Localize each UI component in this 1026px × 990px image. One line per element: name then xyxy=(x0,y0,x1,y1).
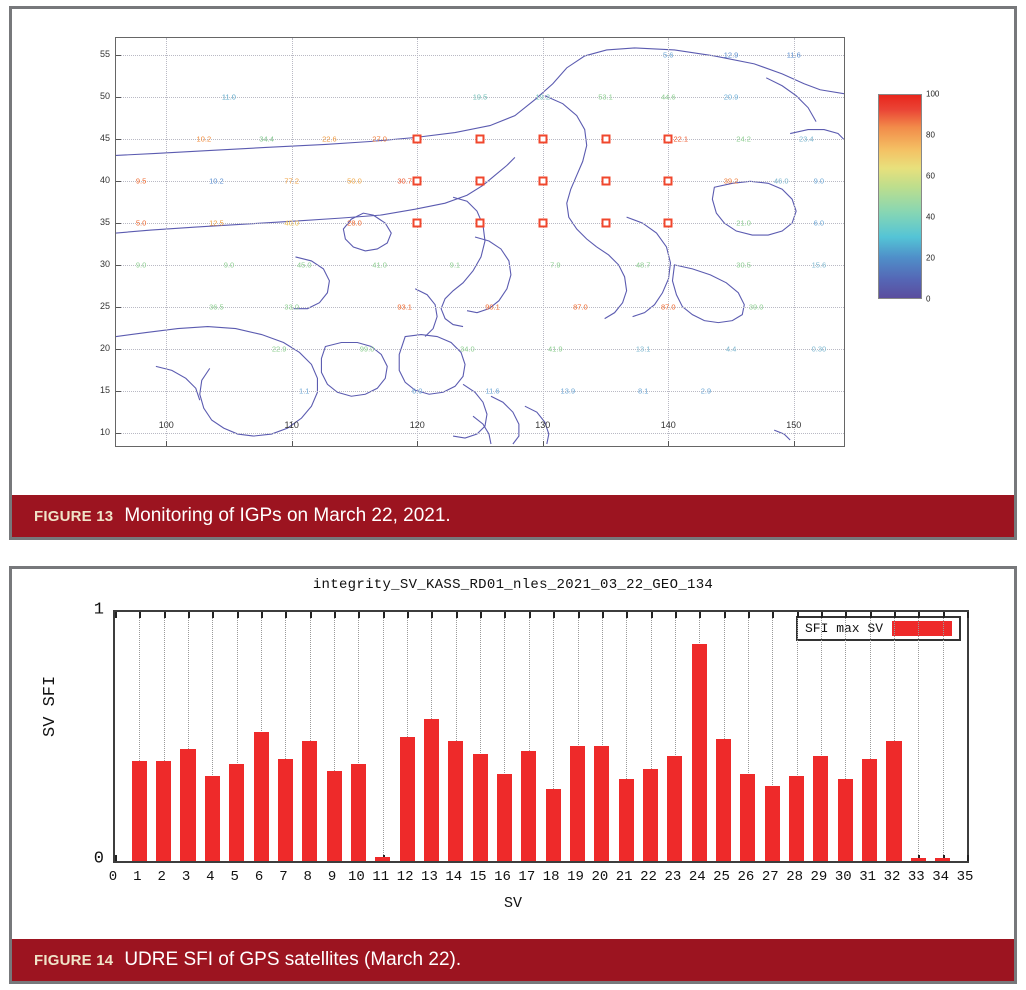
map-x-tick-label: 120 xyxy=(410,420,425,430)
igp-value-label: 41.0 xyxy=(372,261,387,270)
igp-marker xyxy=(601,219,610,228)
figure-14-caption-bar: FIGURE 14 UDRE SFI of GPS satellites (Ma… xyxy=(12,939,1014,981)
colorbar-gradient xyxy=(878,94,922,299)
chart-top-tickmark xyxy=(943,612,945,618)
x-tick-label: 30 xyxy=(835,869,852,885)
igp-value-label: 30.7 xyxy=(397,177,412,186)
bar xyxy=(424,719,439,861)
x-tick-label: 14 xyxy=(445,869,462,885)
igp-value-label: 19.2 xyxy=(535,92,550,101)
chart-top-tickmark xyxy=(675,612,677,618)
igp-value-label: 40.0 xyxy=(284,219,299,228)
chart-top-tickmark xyxy=(529,612,531,618)
chart-top-tickmark xyxy=(139,612,141,618)
bar xyxy=(351,764,366,861)
chart-top-tickmark xyxy=(164,612,166,618)
x-tick-label: 33 xyxy=(908,869,925,885)
igp-value-label: 36.5 xyxy=(209,303,224,312)
igp-value-label: 53.1 xyxy=(598,92,613,101)
x-tick-label: 25 xyxy=(713,869,730,885)
igp-value-label: 87.0 xyxy=(661,303,676,312)
bar xyxy=(643,769,658,861)
map-y-tickmark xyxy=(115,433,121,434)
igp-marker xyxy=(538,177,547,186)
igp-marker xyxy=(664,219,673,228)
igp-marker xyxy=(476,219,485,228)
igp-value-label: 15.6 xyxy=(812,261,827,270)
colorbar-tick-label: 100 xyxy=(926,90,939,99)
bar xyxy=(278,759,293,861)
chart-top-tickmark xyxy=(504,612,506,618)
chart-bottom-tickmark xyxy=(115,855,117,861)
map-gridline-horizontal xyxy=(116,391,844,392)
bar xyxy=(546,789,561,861)
igp-value-label: 87.0 xyxy=(573,303,588,312)
map-x-tickmark xyxy=(794,441,795,447)
chart-top-tickmark xyxy=(456,612,458,618)
x-tick-label: 5 xyxy=(231,869,239,885)
igp-value-label: 7.9 xyxy=(550,261,560,270)
map-y-tickmark xyxy=(115,391,121,392)
map-y-tickmark xyxy=(115,181,121,182)
igp-value-label: 11.6 xyxy=(787,50,801,59)
igp-value-label: 13.9 xyxy=(561,387,576,396)
chart-top-tickmark xyxy=(894,612,896,618)
chart-top-tickmark xyxy=(212,612,214,618)
igp-value-label: 1.1 xyxy=(299,387,309,396)
map-y-tick-label: 15 xyxy=(100,385,110,395)
bar xyxy=(521,751,536,861)
map-y-tick-label: 45 xyxy=(100,133,110,143)
colorbar-tick-label: 80 xyxy=(926,131,935,140)
colorbar: 020406080100 xyxy=(878,94,978,309)
igp-value-label: 22.1 xyxy=(674,134,689,143)
bar xyxy=(375,857,390,861)
igp-value-label: 23.4 xyxy=(799,134,814,143)
x-tick-label: 19 xyxy=(567,869,584,885)
igp-value-label: 34.4 xyxy=(259,134,274,143)
igp-marker xyxy=(601,134,610,143)
bar xyxy=(448,741,463,861)
bar xyxy=(838,779,853,861)
map-y-tickmark xyxy=(115,223,121,224)
map-y-tick-label: 50 xyxy=(100,91,110,101)
map-y-tickmark xyxy=(115,97,121,98)
x-tick-label: 6 xyxy=(255,869,263,885)
igp-marker xyxy=(601,177,610,186)
map-y-tickmark xyxy=(115,139,121,140)
figure-14-card: integrity_SV_KASS_RD01_nles_2021_03_22_G… xyxy=(9,566,1017,984)
bar xyxy=(886,741,901,861)
bar xyxy=(180,749,195,861)
chart-top-tickmark xyxy=(626,612,628,618)
chart-top-tickmark xyxy=(602,612,604,618)
chart-title: integrity_SV_KASS_RD01_nles_2021_03_22_G… xyxy=(12,577,1014,593)
bar xyxy=(205,776,220,861)
x-tick-label: 34 xyxy=(932,869,949,885)
x-tick-label: 29 xyxy=(811,869,828,885)
chart-top-tickmark xyxy=(285,612,287,618)
colorbar-tick-label: 20 xyxy=(926,254,935,263)
map-x-tick-label: 150 xyxy=(786,420,801,430)
chart-top-tickmark xyxy=(334,612,336,618)
chart-top-tickmark xyxy=(845,612,847,618)
igp-value-label: 9.0 xyxy=(136,261,146,270)
bar xyxy=(132,761,147,861)
igp-value-label: 2.9 xyxy=(701,387,711,396)
chart-top-tickmark xyxy=(870,612,872,618)
x-tick-label: 31 xyxy=(859,869,876,885)
map-y-tick-label: 25 xyxy=(100,301,110,311)
chart-bottom-tickmark xyxy=(967,855,969,861)
igp-value-label: 6.0 xyxy=(814,219,824,228)
map-x-tickmark xyxy=(292,441,293,447)
chart-top-tickmark xyxy=(480,612,482,618)
map-y-tickmark xyxy=(115,307,121,308)
bar xyxy=(813,756,828,861)
bar xyxy=(692,644,707,861)
x-tick-label: 12 xyxy=(397,869,414,885)
igp-map: 5.612.911.611.019.519.253.144.620.910.23… xyxy=(115,37,845,447)
igp-value-label: 45.0 xyxy=(297,261,312,270)
bar xyxy=(862,759,877,861)
x-tick-label: 17 xyxy=(518,869,535,885)
igp-value-label: 44.6 xyxy=(661,92,676,101)
x-tick-label: 32 xyxy=(884,869,901,885)
chart-top-tickmark xyxy=(383,612,385,618)
y-tick-label: 0 xyxy=(94,850,104,869)
x-tick-label: 10 xyxy=(348,869,365,885)
x-axis-label: SV xyxy=(12,895,1014,912)
map-x-tick-label: 130 xyxy=(535,420,550,430)
igp-marker xyxy=(538,134,547,143)
bar xyxy=(740,774,755,861)
chart-top-tickmark xyxy=(821,612,823,618)
map-y-tick-label: 10 xyxy=(100,427,110,437)
igp-value-label: 22.9 xyxy=(272,345,287,354)
igp-value-label: 9.5 xyxy=(136,177,146,186)
bar xyxy=(302,741,317,861)
map-gridline-vertical xyxy=(417,38,418,446)
igp-value-label: 39.2 xyxy=(724,177,739,186)
igp-value-label: 5.6 xyxy=(663,50,673,59)
bar xyxy=(789,776,804,861)
figure-14-caption-text: UDRE SFI of GPS satellites (March 22). xyxy=(124,949,461,971)
map-x-tickmark xyxy=(166,441,167,447)
x-tick-label: 24 xyxy=(689,869,706,885)
chart-top-tickmark xyxy=(358,612,360,618)
x-tick-label: 2 xyxy=(157,869,165,885)
x-tick-label: 0 xyxy=(109,869,117,885)
chart-top-tickmark xyxy=(748,612,750,618)
x-tick-label: 9 xyxy=(328,869,336,885)
igp-value-label: 77.2 xyxy=(284,177,299,186)
igp-value-label: 13.1 xyxy=(636,345,651,354)
map-y-tick-label: 35 xyxy=(100,217,110,227)
igp-value-label: 4.4 xyxy=(726,345,736,354)
map-y-tick-label: 20 xyxy=(100,343,110,353)
figure-14-plot-area: integrity_SV_KASS_RD01_nles_2021_03_22_G… xyxy=(12,569,1014,943)
bar xyxy=(716,739,731,861)
colorbar-tick-label: 60 xyxy=(926,172,935,181)
igp-value-label: 11.6 xyxy=(486,387,500,396)
legend-label: SFI max SV xyxy=(805,621,883,636)
igp-value-label: 39.0 xyxy=(749,303,764,312)
bar xyxy=(254,732,269,861)
igp-value-label: 0.30 xyxy=(812,345,827,354)
map-gridline-horizontal xyxy=(116,433,844,434)
chart-top-tickmark xyxy=(431,612,433,618)
igp-value-label: 93.1 xyxy=(397,303,412,312)
y-axis-label: SV SFI xyxy=(41,676,60,737)
x-tick-label: 21 xyxy=(616,869,633,885)
chart-top-tickmark xyxy=(310,612,312,618)
chart-top-tickmark xyxy=(699,612,701,618)
figure-13-plot-area: 5.612.911.611.019.519.253.144.620.910.23… xyxy=(12,9,1014,497)
igp-value-label: 10.2 xyxy=(209,177,224,186)
chart-gridline xyxy=(383,612,384,861)
map-x-tickmark xyxy=(668,441,669,447)
igp-value-label: 28.0 xyxy=(347,219,362,228)
figures-page: 5.612.911.611.019.519.253.144.620.910.23… xyxy=(0,0,1026,990)
x-tick-label: 20 xyxy=(591,869,608,885)
bar-chart-plot: SFI max SV xyxy=(113,610,969,863)
colorbar-tick-label: 0 xyxy=(926,295,930,304)
x-tick-label: 7 xyxy=(279,869,287,885)
x-tick-label: 22 xyxy=(640,869,657,885)
y-tick-label: 1 xyxy=(94,601,104,620)
map-gridline-vertical xyxy=(166,38,167,446)
map-y-tickmark xyxy=(115,55,121,56)
igp-marker xyxy=(476,177,485,186)
bar xyxy=(497,774,512,861)
x-tick-label: 8 xyxy=(304,869,312,885)
chart-gridline xyxy=(943,612,944,861)
chart-top-tickmark xyxy=(115,612,117,618)
bar xyxy=(156,761,171,861)
chart-top-tickmark xyxy=(918,612,920,618)
map-gridline-horizontal xyxy=(116,307,844,308)
map-x-tick-label: 110 xyxy=(285,420,299,430)
igp-value-label: 8.1 xyxy=(638,387,648,396)
igp-value-label: 30.5 xyxy=(736,261,751,270)
map-x-tickmark xyxy=(543,441,544,447)
figure-13-caption-number: FIGURE 13 xyxy=(34,508,113,525)
bar xyxy=(619,779,634,861)
map-y-tick-label: 55 xyxy=(100,49,110,59)
igp-value-label: 12.9 xyxy=(724,50,739,59)
chart-top-tickmark xyxy=(261,612,263,618)
x-tick-label: 15 xyxy=(470,869,487,885)
chart-top-tickmark xyxy=(772,612,774,618)
map-gridline-vertical xyxy=(794,38,795,446)
igp-value-label: 34.0 xyxy=(460,345,475,354)
igp-value-label: 50.0 xyxy=(347,177,362,186)
x-tick-label: 1 xyxy=(133,869,141,885)
igp-value-label: 9.0 xyxy=(224,261,234,270)
x-tick-label: 4 xyxy=(206,869,214,885)
map-gridline-vertical xyxy=(292,38,293,446)
chart-top-tickmark xyxy=(797,612,799,618)
igp-marker xyxy=(413,177,422,186)
igp-marker xyxy=(413,134,422,143)
bar xyxy=(400,737,415,862)
bar xyxy=(911,858,926,861)
x-tick-label: 11 xyxy=(372,869,389,885)
x-tick-label: 26 xyxy=(738,869,755,885)
figure-14-caption-number: FIGURE 14 xyxy=(34,952,113,969)
bar xyxy=(765,786,780,861)
figure-13-caption-text: Monitoring of IGPs on March 22, 2021. xyxy=(124,505,450,527)
igp-value-label: 21.0 xyxy=(736,219,751,228)
map-y-tick-label: 40 xyxy=(100,175,110,185)
igp-marker xyxy=(664,177,673,186)
igp-value-label: 46.0 xyxy=(774,177,789,186)
figure-13-caption-bar: FIGURE 13 Monitoring of IGPs on March 22… xyxy=(12,495,1014,537)
bar xyxy=(570,746,585,861)
igp-value-label: 99.0 xyxy=(360,345,375,354)
chart-top-tickmark xyxy=(407,612,409,618)
bar xyxy=(473,754,488,861)
map-y-tickmark xyxy=(115,349,121,350)
x-tick-label: 28 xyxy=(786,869,803,885)
map-x-tickmark xyxy=(417,441,418,447)
x-tick-label: 18 xyxy=(543,869,560,885)
igp-value-label: 12.5 xyxy=(209,219,224,228)
bar xyxy=(667,756,682,861)
x-tick-label: 27 xyxy=(762,869,779,885)
chart-top-tickmark xyxy=(188,612,190,618)
x-tick-label: 3 xyxy=(182,869,190,885)
igp-marker xyxy=(664,134,673,143)
igp-value-label: 6.0 xyxy=(412,387,422,396)
igp-value-label: 33.0 xyxy=(284,303,299,312)
bar xyxy=(935,858,950,861)
igp-value-label: 48.7 xyxy=(636,261,651,270)
x-tick-label: 23 xyxy=(664,869,681,885)
chart-top-tickmark xyxy=(578,612,580,618)
map-y-tick-label: 30 xyxy=(100,259,110,269)
igp-value-label: 19.5 xyxy=(473,92,488,101)
x-tick-label: 35 xyxy=(957,869,974,885)
igp-value-label: 41.9 xyxy=(548,345,563,354)
igp-value-label: 10.2 xyxy=(197,134,212,143)
bar xyxy=(229,764,244,861)
igp-value-label: 5.0 xyxy=(136,219,146,228)
map-x-tick-label: 140 xyxy=(661,420,676,430)
x-tick-label: 13 xyxy=(421,869,438,885)
bar xyxy=(594,746,609,861)
chart-top-tickmark xyxy=(724,612,726,618)
igp-marker xyxy=(413,219,422,228)
igp-value-label: 11.0 xyxy=(222,92,236,101)
map-y-tickmark xyxy=(115,265,121,266)
igp-marker xyxy=(538,219,547,228)
map-x-tick-label: 100 xyxy=(159,420,174,430)
igp-value-label: 90.1 xyxy=(485,303,500,312)
bar xyxy=(327,771,342,861)
colorbar-tick-label: 40 xyxy=(926,213,935,222)
figure-13-card: 5.612.911.611.019.519.253.144.620.910.23… xyxy=(9,6,1017,540)
x-tick-label: 16 xyxy=(494,869,511,885)
chart-top-tickmark xyxy=(237,612,239,618)
igp-value-label: 9.0 xyxy=(814,177,824,186)
igp-value-label: 24.2 xyxy=(736,134,751,143)
igp-marker xyxy=(476,134,485,143)
chart-top-tickmark xyxy=(967,612,969,618)
igp-value-label: 27.0 xyxy=(372,134,387,143)
chart-top-tickmark xyxy=(651,612,653,618)
igp-value-label: 9.1 xyxy=(450,261,460,270)
igp-value-label: 20.9 xyxy=(724,92,739,101)
chart-top-tickmark xyxy=(553,612,555,618)
igp-value-label: 22.6 xyxy=(322,134,337,143)
chart-gridline xyxy=(918,612,919,861)
